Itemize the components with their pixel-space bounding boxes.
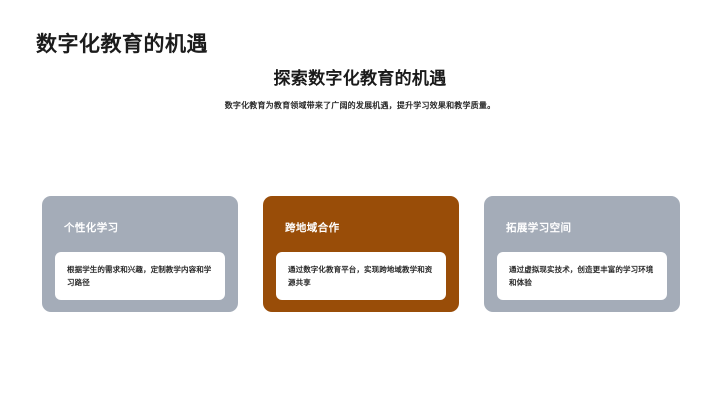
feature-card[interactable]: 个性化学习 根据学生的需求和兴趣，定制教学内容和学习路径 (42, 196, 238, 312)
card-list: 个性化学习 根据学生的需求和兴趣，定制教学内容和学习路径 跨地域合作 通过数字化… (42, 196, 680, 312)
page-title: 数字化教育的机遇 (36, 28, 208, 58)
feature-card-body: 通过虚拟现实技术，创造更丰富的学习环境和体验 (497, 252, 667, 300)
feature-card-body: 通过数字化教育平台，实现跨地域教学和资源共享 (276, 252, 446, 300)
feature-card-title: 拓展学习空间 (506, 220, 571, 235)
feature-card[interactable]: 跨地域合作 通过数字化教育平台，实现跨地域教学和资源共享 (263, 196, 459, 312)
feature-card-description: 根据学生的需求和兴趣，定制教学内容和学习路径 (67, 263, 213, 289)
feature-card-description: 通过虚拟现实技术，创造更丰富的学习环境和体验 (509, 263, 655, 289)
feature-card-title: 跨地域合作 (285, 220, 340, 235)
feature-card[interactable]: 拓展学习空间 通过虚拟现实技术，创造更丰富的学习环境和体验 (484, 196, 680, 312)
section-headline: 探索数字化教育的机遇 (0, 64, 720, 89)
feature-card-description: 通过数字化教育平台，实现跨地域教学和资源共享 (288, 263, 434, 289)
feature-card-body: 根据学生的需求和兴趣，定制教学内容和学习路径 (55, 252, 225, 300)
section-subheadline: 数字化教育为教育领域带来了广阔的发展机遇，提升学习效果和教学质量。 (0, 100, 720, 111)
feature-card-title: 个性化学习 (64, 220, 119, 235)
slide-canvas: 数字化教育的机遇 探索数字化教育的机遇 数字化教育为教育领域带来了广阔的发展机遇… (0, 0, 720, 404)
